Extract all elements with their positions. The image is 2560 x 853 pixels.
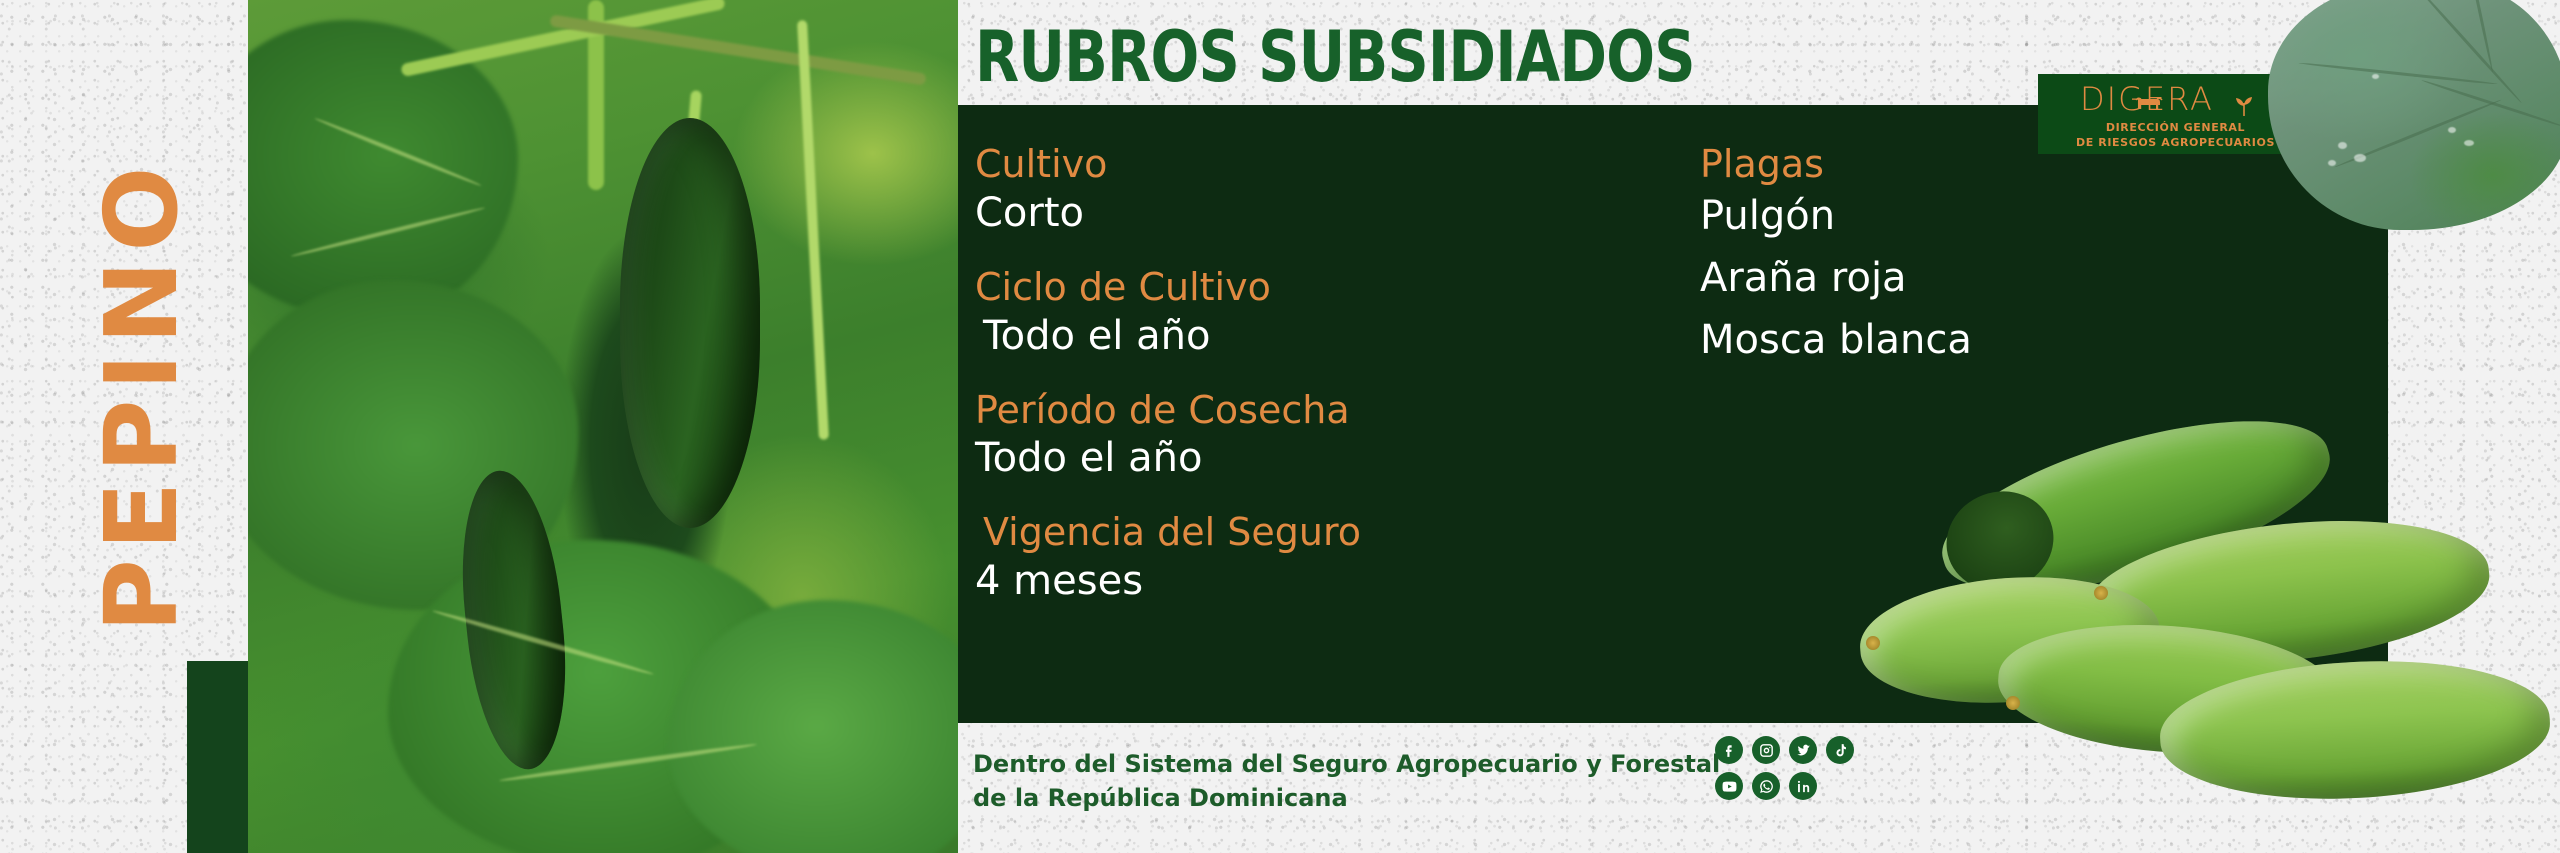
cow-icon bbox=[2135, 96, 2165, 110]
cucumber-pile-photo bbox=[1850, 400, 2550, 830]
field-value: Corto bbox=[975, 189, 1675, 237]
crop-info-column: Cultivo Corto Ciclo de Cultivo Todo el a… bbox=[975, 142, 1675, 633]
linkedin-icon[interactable] bbox=[1789, 772, 1817, 800]
social-row-2 bbox=[1715, 772, 1885, 800]
logo-subtitle: DIRECCIÓN GENERAL DE RIESGOS AGROPECUARI… bbox=[2068, 121, 2283, 151]
tiktok-icon[interactable] bbox=[1826, 736, 1854, 764]
pests-column: Plagas Pulgón Araña roja Mosca blanca bbox=[1700, 142, 2340, 382]
twitter-icon[interactable] bbox=[1789, 736, 1817, 764]
cucumber-vine-photo bbox=[248, 0, 958, 853]
field-label: Cultivo bbox=[975, 142, 1675, 187]
logo-subtitle-line2: DE RIESGOS AGROPECUARIOS bbox=[2068, 136, 2283, 151]
instagram-icon[interactable] bbox=[1752, 736, 1780, 764]
page-title: RUBROS SUBSIDIADOS bbox=[975, 22, 1695, 92]
infographic-canvas: PEPINO RUBROS SUBSIDIADOS Cultivo Corto … bbox=[0, 0, 2560, 853]
footer-line-1: Dentro del Sistema del Seguro Agropecuar… bbox=[973, 747, 1720, 781]
field-ciclo-de-cultivo: Ciclo de Cultivo Todo el año bbox=[975, 265, 1675, 360]
field-label: Vigencia del Seguro bbox=[975, 510, 1675, 555]
pest-item: Araña roja bbox=[1700, 258, 2340, 298]
plant-icon bbox=[2234, 94, 2254, 116]
youtube-icon[interactable] bbox=[1715, 772, 1743, 800]
logo-subtitle-line1: DIRECCIÓN GENERAL bbox=[2068, 121, 2283, 136]
field-label: Ciclo de Cultivo bbox=[975, 265, 1675, 310]
digera-logo: DIGERA DIRECCIÓN GENERAL DE RIESGOS AGRO… bbox=[2038, 74, 2288, 154]
field-vigencia-del-seguro: Vigencia del Seguro 4 meses bbox=[975, 510, 1675, 605]
cucumber-leaf-decoration bbox=[2268, 0, 2560, 230]
field-label: Período de Cosecha bbox=[975, 388, 1675, 433]
crop-name-vertical: PEPINO bbox=[92, 155, 192, 635]
field-cultivo: Cultivo Corto bbox=[975, 142, 1675, 237]
footer-disclaimer: Dentro del Sistema del Seguro Agropecuar… bbox=[973, 747, 1720, 815]
field-value: 4 meses bbox=[975, 557, 1675, 605]
footer-line-2: de la República Dominicana bbox=[973, 781, 1720, 815]
field-periodo-de-cosecha: Período de Cosecha Todo el año bbox=[975, 388, 1675, 483]
field-value: Todo el año bbox=[975, 312, 1675, 360]
left-green-accent-block bbox=[187, 661, 250, 853]
social-row-1 bbox=[1715, 736, 1885, 764]
field-value: Todo el año bbox=[975, 434, 1675, 482]
pest-item: Mosca blanca bbox=[1700, 320, 2340, 360]
pest-item: Pulgón bbox=[1700, 196, 2340, 236]
facebook-icon[interactable] bbox=[1715, 736, 1743, 764]
whatsapp-icon[interactable] bbox=[1752, 772, 1780, 800]
social-links bbox=[1715, 736, 1885, 808]
